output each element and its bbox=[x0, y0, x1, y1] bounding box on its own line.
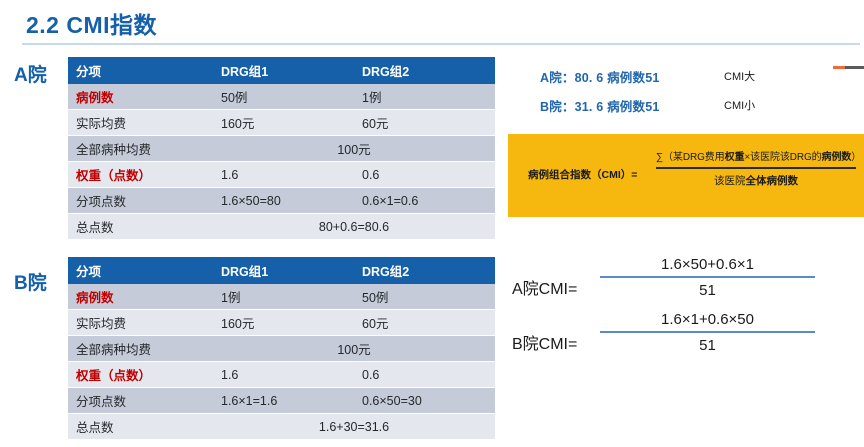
row-value-drg1: 1.6 bbox=[213, 362, 354, 388]
row-value-drg1: 1例 bbox=[213, 284, 354, 310]
table-row: 实际均费 160元 60元 bbox=[68, 110, 495, 136]
fraction-bar bbox=[600, 276, 815, 278]
row-value-span: 1.6+30=31.6 bbox=[213, 414, 495, 440]
page-title: 2.2 CMI指数 bbox=[26, 6, 157, 40]
numerator-mid: ×该医院该DRG的 bbox=[744, 152, 821, 163]
row-value-drg2: 50例 bbox=[354, 284, 495, 310]
side-label-hospital-a: A院 bbox=[14, 60, 47, 87]
table-row: 分项点数 1.6×50=80 0.6×1=0.6 bbox=[68, 188, 495, 214]
numerator-suffix: ） bbox=[851, 152, 861, 163]
side-label-hospital-b: B院 bbox=[14, 268, 47, 295]
row-value-drg1: 1.6×1=1.6 bbox=[213, 388, 354, 414]
row-value-drg2: 1例 bbox=[354, 84, 495, 110]
column-header-item: 分项 bbox=[68, 257, 213, 284]
equation-label-hospital-b: B院CMI= bbox=[512, 330, 577, 354]
cmi-formula-label: 病例组合指数（CMI）= bbox=[528, 167, 637, 182]
row-key: 分项点数 bbox=[68, 188, 213, 214]
cmi-formula-fraction: ∑（某DRG费用权重×该医院该DRG的病例数） 该医院全体病例数 bbox=[656, 148, 856, 188]
summary-note-cmi-low: CMI小 bbox=[724, 97, 755, 113]
fraction-bar bbox=[656, 167, 856, 169]
row-value-span: 100元 bbox=[213, 336, 495, 362]
row-key: 实际均费 bbox=[68, 110, 213, 136]
summary-note-cmi-high: CMI大 bbox=[724, 68, 755, 84]
row-key: 病例数 bbox=[68, 84, 213, 110]
table-row: 权重（点数） 1.6 0.6 bbox=[68, 362, 495, 388]
denominator-prefix: 该医院 bbox=[714, 175, 746, 187]
row-key: 分项点数 bbox=[68, 388, 213, 414]
table-row: 全部病种均费 100元 bbox=[68, 336, 495, 362]
equation-fraction-hospital-a: 1.6×50+0.6×1 51 bbox=[600, 256, 815, 299]
column-header-drg2: DRG组2 bbox=[354, 57, 495, 84]
denominator-bold: 全体病例数 bbox=[746, 175, 799, 187]
table-hospital-a: 分项 DRG组1 DRG组2 病例数 50例 1例 实际均费 160元 60元 … bbox=[68, 57, 495, 239]
table-header-row: 分项 DRG组1 DRG组2 bbox=[68, 257, 495, 284]
cmi-formula-box: 病例组合指数（CMI）= ∑（某DRG费用权重×该医院该DRG的病例数） 该医院… bbox=[508, 134, 864, 217]
table-row: 病例数 1例 50例 bbox=[68, 284, 495, 310]
table-row: 总点数 80+0.6=80.6 bbox=[68, 214, 495, 240]
row-key: 总点数 bbox=[68, 214, 213, 240]
slide-canvas: 2.2 CMI指数 A院 B院 分项 DRG组1 DRG组2 病例数 50例 1… bbox=[0, 0, 864, 447]
row-value-drg2: 60元 bbox=[354, 310, 495, 336]
table-row: 全部病种均费 100元 bbox=[68, 136, 495, 162]
title-divider bbox=[22, 43, 860, 45]
cmi-formula-numerator: ∑（某DRG费用权重×该医院该DRG的病例数） bbox=[656, 148, 856, 163]
table-row: 权重（点数） 1.6 0.6 bbox=[68, 162, 495, 188]
row-key: 权重（点数） bbox=[68, 162, 213, 188]
row-value-drg2: 0.6×1=0.6 bbox=[354, 188, 495, 214]
row-value-drg2: 0.6×50=30 bbox=[354, 388, 495, 414]
table-row: 病例数 50例 1例 bbox=[68, 84, 495, 110]
row-value-drg2: 0.6 bbox=[354, 162, 495, 188]
equation-numerator: 1.6×1+0.6×50 bbox=[600, 311, 815, 328]
table-row: 实际均费 160元 60元 bbox=[68, 310, 495, 336]
table-header-row: 分项 DRG组1 DRG组2 bbox=[68, 57, 495, 84]
equation-denominator: 51 bbox=[600, 337, 815, 354]
equation-fraction-hospital-b: 1.6×1+0.6×50 51 bbox=[600, 311, 815, 354]
summary-line-hospital-a: A院：80. 6 病例数51 bbox=[540, 67, 660, 86]
numerator-bold-weight: 权重 bbox=[725, 152, 745, 163]
row-value-drg2: 0.6 bbox=[354, 362, 495, 388]
row-key: 病例数 bbox=[68, 284, 213, 310]
row-key: 全部病种均费 bbox=[68, 136, 213, 162]
table-hospital-b: 分项 DRG组1 DRG组2 病例数 1例 50例 实际均费 160元 60元 … bbox=[68, 257, 495, 439]
equation-label-hospital-a: A院CMI= bbox=[512, 275, 577, 299]
table-row: 分项点数 1.6×1=1.6 0.6×50=30 bbox=[68, 388, 495, 414]
table-row: 总点数 1.6+30=31.6 bbox=[68, 414, 495, 440]
row-key: 全部病种均费 bbox=[68, 336, 213, 362]
column-header-drg2: DRG组2 bbox=[354, 257, 495, 284]
row-value-span: 80+0.6=80.6 bbox=[213, 214, 495, 240]
cmi-formula-denominator: 该医院全体病例数 bbox=[656, 173, 856, 188]
column-header-drg1: DRG组1 bbox=[213, 57, 354, 84]
row-key: 权重（点数） bbox=[68, 362, 213, 388]
numerator-prefix: ∑（某DRG费用 bbox=[656, 152, 725, 163]
decorative-rule-icon bbox=[833, 66, 864, 69]
summary-line-hospital-b: B院：31. 6 病例数51 bbox=[540, 96, 660, 115]
row-value-span: 100元 bbox=[213, 136, 495, 162]
column-header-item: 分项 bbox=[68, 57, 213, 84]
row-value-drg1: 50例 bbox=[213, 84, 354, 110]
row-value-drg1: 1.6 bbox=[213, 162, 354, 188]
numerator-bold-cases: 病例数 bbox=[822, 152, 852, 163]
row-key: 实际均费 bbox=[68, 310, 213, 336]
row-value-drg1: 160元 bbox=[213, 110, 354, 136]
row-value-drg2: 60元 bbox=[354, 110, 495, 136]
equation-denominator: 51 bbox=[600, 282, 815, 299]
row-key: 总点数 bbox=[68, 414, 213, 440]
equation-numerator: 1.6×50+0.6×1 bbox=[600, 256, 815, 273]
column-header-drg1: DRG组1 bbox=[213, 257, 354, 284]
row-value-drg1: 1.6×50=80 bbox=[213, 188, 354, 214]
fraction-bar bbox=[600, 331, 815, 333]
row-value-drg1: 160元 bbox=[213, 310, 354, 336]
